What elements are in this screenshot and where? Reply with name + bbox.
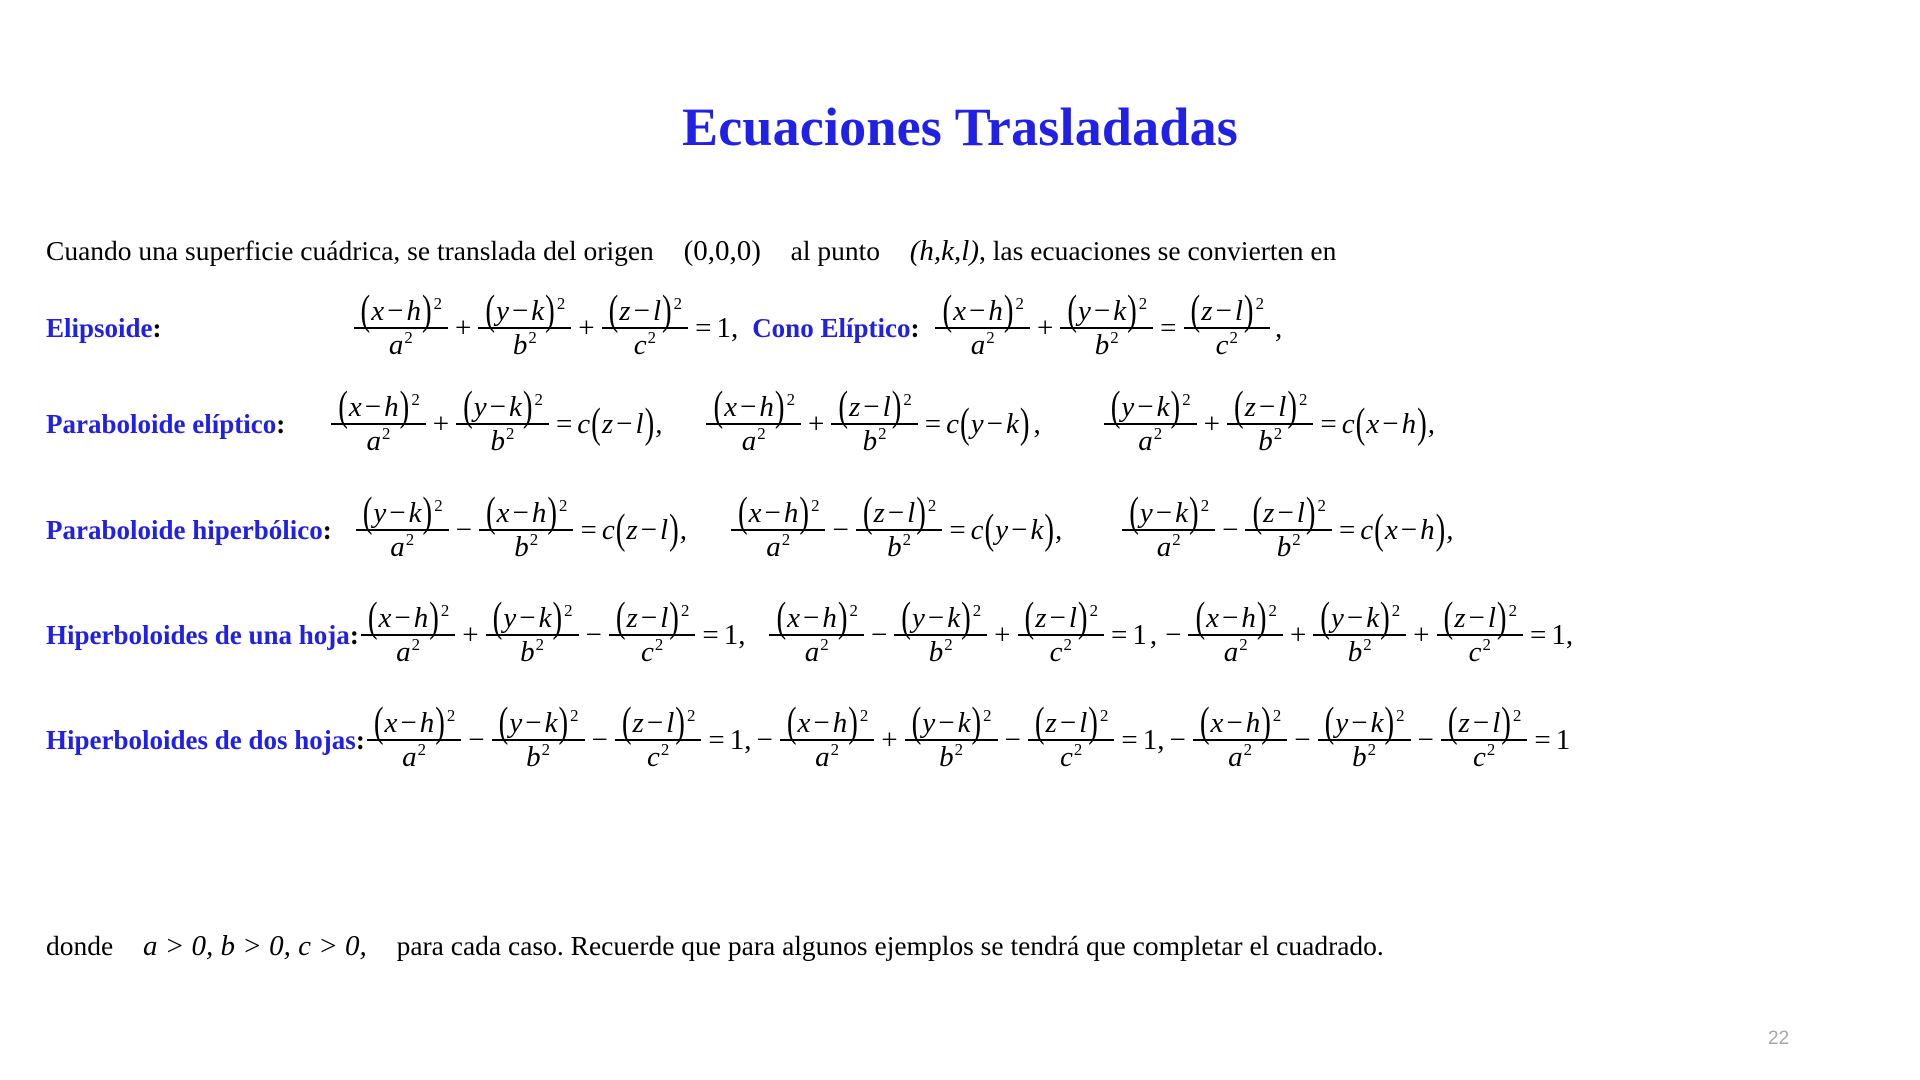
origin-point: (0,0,0) xyxy=(684,235,761,267)
fraction-z-l-over-c: (z−l)2 c2 xyxy=(602,296,688,360)
punctuation-comma: , xyxy=(1147,619,1160,652)
fraction-y-k-over-b: (y−k)2 b2 xyxy=(1313,603,1406,667)
fraction-x-h-over-a: (x−h)2 a2 xyxy=(780,708,874,772)
fraction-z-l-over-c: (z−l)2 c2 xyxy=(609,603,695,667)
fraction-z-l-over-c: (z−l)2 c2 xyxy=(1028,708,1114,772)
operator-plus: + xyxy=(573,312,599,345)
value-one: 1, xyxy=(716,312,738,345)
fraction-y-k-over-b: (y−k)2 b2 xyxy=(894,603,987,667)
outro-paragraph: donde a > 0, b > 0, c > 0, para cada cas… xyxy=(46,928,1384,964)
operator-equals: = xyxy=(1155,312,1181,345)
label-elipsoide: Elipsoide: xyxy=(46,313,162,344)
operator-equals: = xyxy=(920,408,946,441)
operator-equals: = xyxy=(697,619,723,652)
operator-plus: + xyxy=(1032,312,1058,345)
label-hiperboloides-dos-hojas: Hiperboloides de dos hojas: xyxy=(46,725,365,756)
fraction-y-k-over-a: (y−k)2 a2 xyxy=(1122,498,1215,562)
fraction-y-k-over-b: (y−k)2 b2 xyxy=(486,603,579,667)
fraction-x-h-over-a: (x−h)2 a2 xyxy=(367,708,461,772)
operator-plus: + xyxy=(989,619,1015,652)
operator-minus: − xyxy=(1000,724,1026,757)
label-paraboloide-hiperbolico: Paraboloide hiperbólico: xyxy=(46,515,332,546)
value-one: 1, xyxy=(1551,619,1573,652)
fraction-y-k-over-a: (y−k)2 a2 xyxy=(1104,392,1197,456)
operator-plus: + xyxy=(450,312,476,345)
value-one: 1, xyxy=(724,619,746,652)
fraction-y-k-over-b: (y−k)2 b2 xyxy=(492,708,585,772)
intro-text-1: Cuando una superficie cuádrica, se trans… xyxy=(46,235,654,266)
label-hiperboloides-una-hoja: Hiperboloides de una hoja: xyxy=(46,620,359,651)
fraction-x-h-over-a: (x−h)2 a2 xyxy=(769,603,863,667)
operator-minus: − xyxy=(827,514,853,547)
fraction-x-h-over-a: (x−h)2 a2 xyxy=(731,498,825,562)
fraction-x-h-over-a: (x−h)2 a2 xyxy=(1188,603,1282,667)
value-one: 1 xyxy=(1132,619,1147,652)
operator-plus: + xyxy=(1408,619,1434,652)
punctuation-comma: , xyxy=(1030,408,1043,441)
outro-text-1: donde xyxy=(46,930,113,961)
expression-c-y-k: c(y−k), xyxy=(971,514,1063,547)
expression-c-x-h: c(x−h), xyxy=(1360,514,1453,547)
intro-paragraph: Cuando una superficie cuádrica, se trans… xyxy=(46,233,1336,269)
expression-c-x-h: c(x−h), xyxy=(1342,408,1435,441)
operator-equals: = xyxy=(575,514,601,547)
operator-equals: = xyxy=(703,724,729,757)
value-one: 1, xyxy=(1143,724,1165,757)
operator-equals: = xyxy=(944,514,970,547)
operator-equals: = xyxy=(551,408,577,441)
operator-minus: − xyxy=(1217,514,1243,547)
fraction-y-k-over-b: (y−k)2 b2 xyxy=(456,392,549,456)
fraction-x-h-over-a: (x−h)2 a2 xyxy=(1193,708,1287,772)
fraction-z-l-over-c: (z−l)2 c2 xyxy=(1184,296,1270,360)
page-number: 22 xyxy=(1768,1028,1789,1050)
operator-minus: − xyxy=(751,724,777,757)
punctuation-comma: , xyxy=(1272,312,1285,345)
operator-minus: − xyxy=(463,724,489,757)
operator-plus: + xyxy=(1199,408,1225,441)
fraction-y-k-over-b: (y−k)2 b2 xyxy=(1318,708,1411,772)
fraction-y-k-over-b: (y−k)2 b2 xyxy=(905,708,998,772)
intro-text-2: al punto xyxy=(791,235,880,266)
fraction-y-k-over-b: (y−k)2 b2 xyxy=(1060,296,1153,360)
outro-text-2: para cada caso. Recuerde que para alguno… xyxy=(397,930,1384,961)
operator-minus: − xyxy=(451,514,477,547)
operator-minus: − xyxy=(1160,619,1186,652)
expression-c-y-k: c(y−k) xyxy=(946,408,1030,441)
operator-minus: − xyxy=(1413,724,1439,757)
operator-minus: − xyxy=(581,619,607,652)
operator-minus: − xyxy=(866,619,892,652)
fraction-x-h-over-a: (x−h)2 a2 xyxy=(354,296,448,360)
label-paraboloide-eliptico: Paraboloide elíptico: xyxy=(46,409,285,440)
fraction-z-l-over-c: (z−l)2 c2 xyxy=(1437,603,1523,667)
expression-c-z-l: c(z−l), xyxy=(577,408,662,441)
operator-equals: = xyxy=(1315,408,1341,441)
fraction-x-h-over-b: (x−h)2 b2 xyxy=(479,498,573,562)
label-cono-eliptico: Cono Elíptico: xyxy=(752,313,919,344)
page-title: Ecuaciones Trasladadas xyxy=(0,96,1920,158)
value-one: 1 xyxy=(1556,724,1571,757)
fraction-z-l-over-c: (z−l)2 c2 xyxy=(615,708,701,772)
fraction-z-l-over-c: (z−l)2 c2 xyxy=(1441,708,1527,772)
fraction-x-h-over-a: (x−h)2 a2 xyxy=(706,392,800,456)
operator-minus: − xyxy=(1164,724,1190,757)
operator-equals: = xyxy=(1116,724,1142,757)
fraction-x-h-over-a: (x−h)2 a2 xyxy=(331,392,425,456)
operator-plus: + xyxy=(428,408,454,441)
translated-point: (h,k,l) xyxy=(910,235,979,267)
fraction-z-l-over-b: (z−l)2 b2 xyxy=(831,392,917,456)
operator-plus: + xyxy=(876,724,902,757)
operator-equals: = xyxy=(1529,724,1555,757)
fraction-x-h-over-a: (x−h)2 a2 xyxy=(935,296,1029,360)
expression-c-z-l: c(z−l), xyxy=(602,514,687,547)
operator-minus: − xyxy=(587,724,613,757)
fraction-z-l-over-b: (z−l)2 b2 xyxy=(1245,498,1331,562)
operator-minus: − xyxy=(1289,724,1315,757)
operator-equals: = xyxy=(1106,619,1132,652)
operator-plus: + xyxy=(1285,619,1311,652)
value-one: 1, xyxy=(730,724,752,757)
operator-equals: = xyxy=(690,312,716,345)
fraction-x-h-over-a: (x−h)2 a2 xyxy=(361,603,455,667)
intro-text-3: , las ecuaciones se convierten en xyxy=(979,235,1336,266)
fraction-z-l-over-c: (z−l)2 c2 xyxy=(1018,603,1104,667)
condition-expression: a > 0, b > 0, c > 0, xyxy=(143,930,367,962)
operator-plus: + xyxy=(803,408,829,441)
fraction-y-k-over-a: (y−k)2 a2 xyxy=(356,498,449,562)
operator-plus: + xyxy=(457,619,483,652)
operator-equals: = xyxy=(1334,514,1360,547)
fraction-z-l-over-b: (z−l)2 b2 xyxy=(1227,392,1313,456)
fraction-z-l-over-b: (z−l)2 b2 xyxy=(856,498,942,562)
operator-equals: = xyxy=(1525,619,1551,652)
fraction-y-k-over-b: (y−k)2 b2 xyxy=(478,296,571,360)
